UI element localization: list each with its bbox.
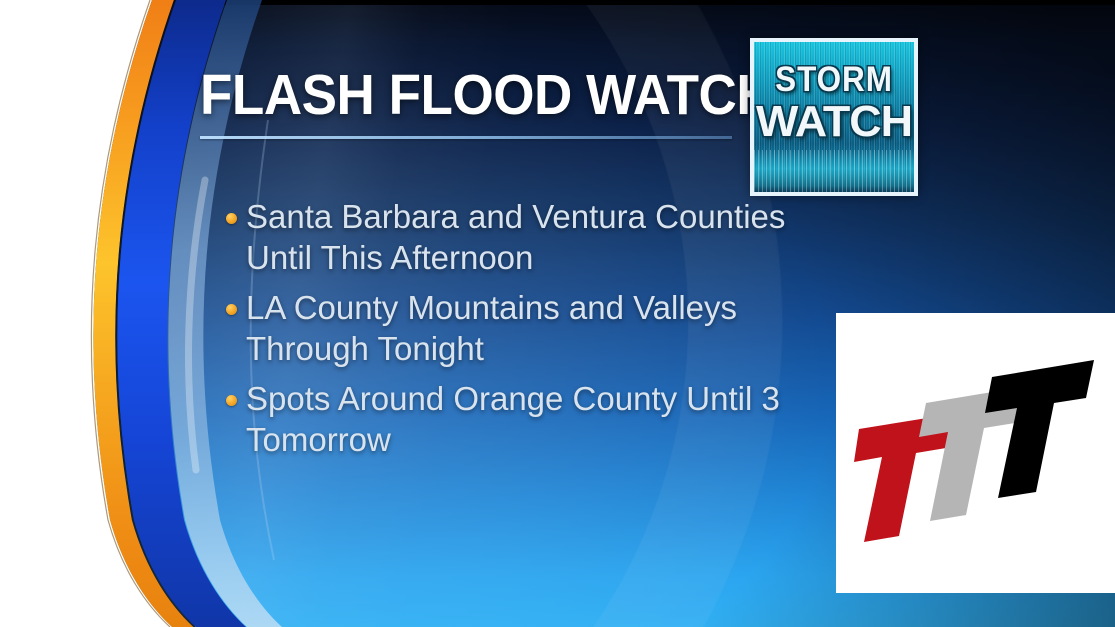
list-item-line-2: Until This Afternoon bbox=[246, 237, 922, 278]
storm-watch-spray bbox=[754, 150, 914, 192]
bullet-dot-icon bbox=[226, 304, 237, 315]
title-divider bbox=[200, 136, 732, 139]
list-item: Spots Around Orange County Until 3 Tomor… bbox=[222, 378, 922, 460]
watermark-overlay-panel bbox=[836, 313, 1115, 593]
storm-watch-wordmark: STORM WATCH bbox=[754, 62, 914, 145]
list-item: LA County Mountains and Valleys Through … bbox=[222, 287, 922, 369]
list-item: Santa Barbara and Ventura Counties Until… bbox=[222, 196, 922, 278]
bullet-dot-icon bbox=[226, 213, 237, 224]
headline-block: FLASH FLOOD WATCH bbox=[200, 64, 740, 139]
list-item-line-1: Santa Barbara and Ventura Counties bbox=[246, 196, 922, 237]
bullet-dot-icon bbox=[226, 395, 237, 406]
advisory-list: Santa Barbara and Ventura Counties Until… bbox=[222, 196, 922, 469]
list-item-line-1: LA County Mountains and Valleys bbox=[246, 287, 922, 328]
ttt-logo bbox=[854, 353, 1106, 553]
ttt-logo-letter-black bbox=[985, 360, 1094, 498]
storm-watch-line-2: WATCH bbox=[752, 99, 915, 145]
broadcast-graphic: FLASH FLOOD WATCH STORM WATCH Santa Barb… bbox=[0, 0, 1115, 627]
storm-watch-logo: STORM WATCH bbox=[750, 38, 918, 196]
list-item-line-1: Spots Around Orange County Until 3 bbox=[246, 378, 922, 419]
storm-watch-line-1: STORM bbox=[762, 62, 906, 97]
list-item-line-2: Through Tonight bbox=[246, 328, 922, 369]
list-item-line-2: Tomorrow bbox=[246, 419, 922, 460]
page-title: FLASH FLOOD WATCH bbox=[200, 64, 702, 126]
